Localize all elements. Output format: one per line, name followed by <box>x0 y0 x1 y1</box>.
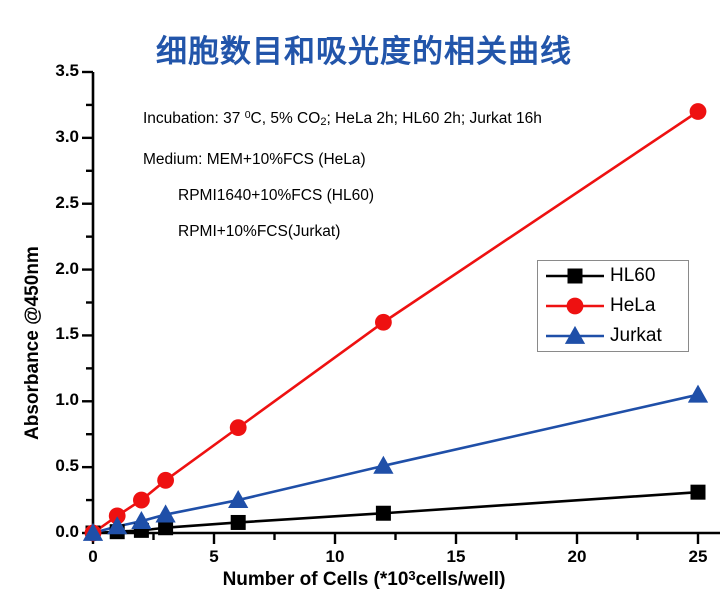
legend-marker-square-icon <box>544 262 606 290</box>
x-tick-label: 10 <box>315 547 355 567</box>
y-tick-label: 1.5 <box>35 324 79 344</box>
y-tick-label: 2.0 <box>35 259 79 279</box>
annotation-medium-line1: Medium: MEM+10%FCS (HeLa) <box>143 152 366 168</box>
legend-marker-circle-icon <box>544 292 606 320</box>
legend-item-jurkat[interactable]: Jurkat <box>538 321 688 351</box>
x-tick-label: 20 <box>557 547 597 567</box>
x-tick-label: 0 <box>73 547 113 567</box>
y-tick-label: 0.5 <box>35 456 79 476</box>
x-axis-label: Number of Cells (*103cells/well) <box>0 568 728 591</box>
x-tick-label: 5 <box>194 547 234 567</box>
annotation-medium-line3: RPMI+10%FCS(Jurkat) <box>178 224 340 240</box>
y-tick-label: 2.5 <box>35 193 79 213</box>
legend: HL60HeLaJurkat <box>537 260 689 352</box>
legend-item-hl60[interactable]: HL60 <box>538 261 688 291</box>
legend-label: HeLa <box>610 295 655 317</box>
y-tick-label: 3.5 <box>35 61 79 81</box>
legend-item-hela[interactable]: HeLa <box>538 291 688 321</box>
legend-marker-triangle-icon <box>544 322 606 350</box>
annotation-medium-line2: RPMI1640+10%FCS (HL60) <box>178 188 374 204</box>
legend-label: HL60 <box>610 265 655 287</box>
y-tick-label: 1.0 <box>35 390 79 410</box>
x-tick-label: 25 <box>678 547 718 567</box>
y-tick-label: 0.0 <box>35 522 79 542</box>
annotation-incubation: Incubation: 37 0C, 5% CO2; HeLa 2h; HL60… <box>143 110 542 128</box>
x-tick-label: 15 <box>436 547 476 567</box>
legend-label: Jurkat <box>610 325 662 347</box>
y-tick-label: 3.0 <box>35 127 79 147</box>
chart-root: 细胞数目和吸光度的相关曲线 Incubation: 37 0C, 5% CO2;… <box>0 0 728 605</box>
